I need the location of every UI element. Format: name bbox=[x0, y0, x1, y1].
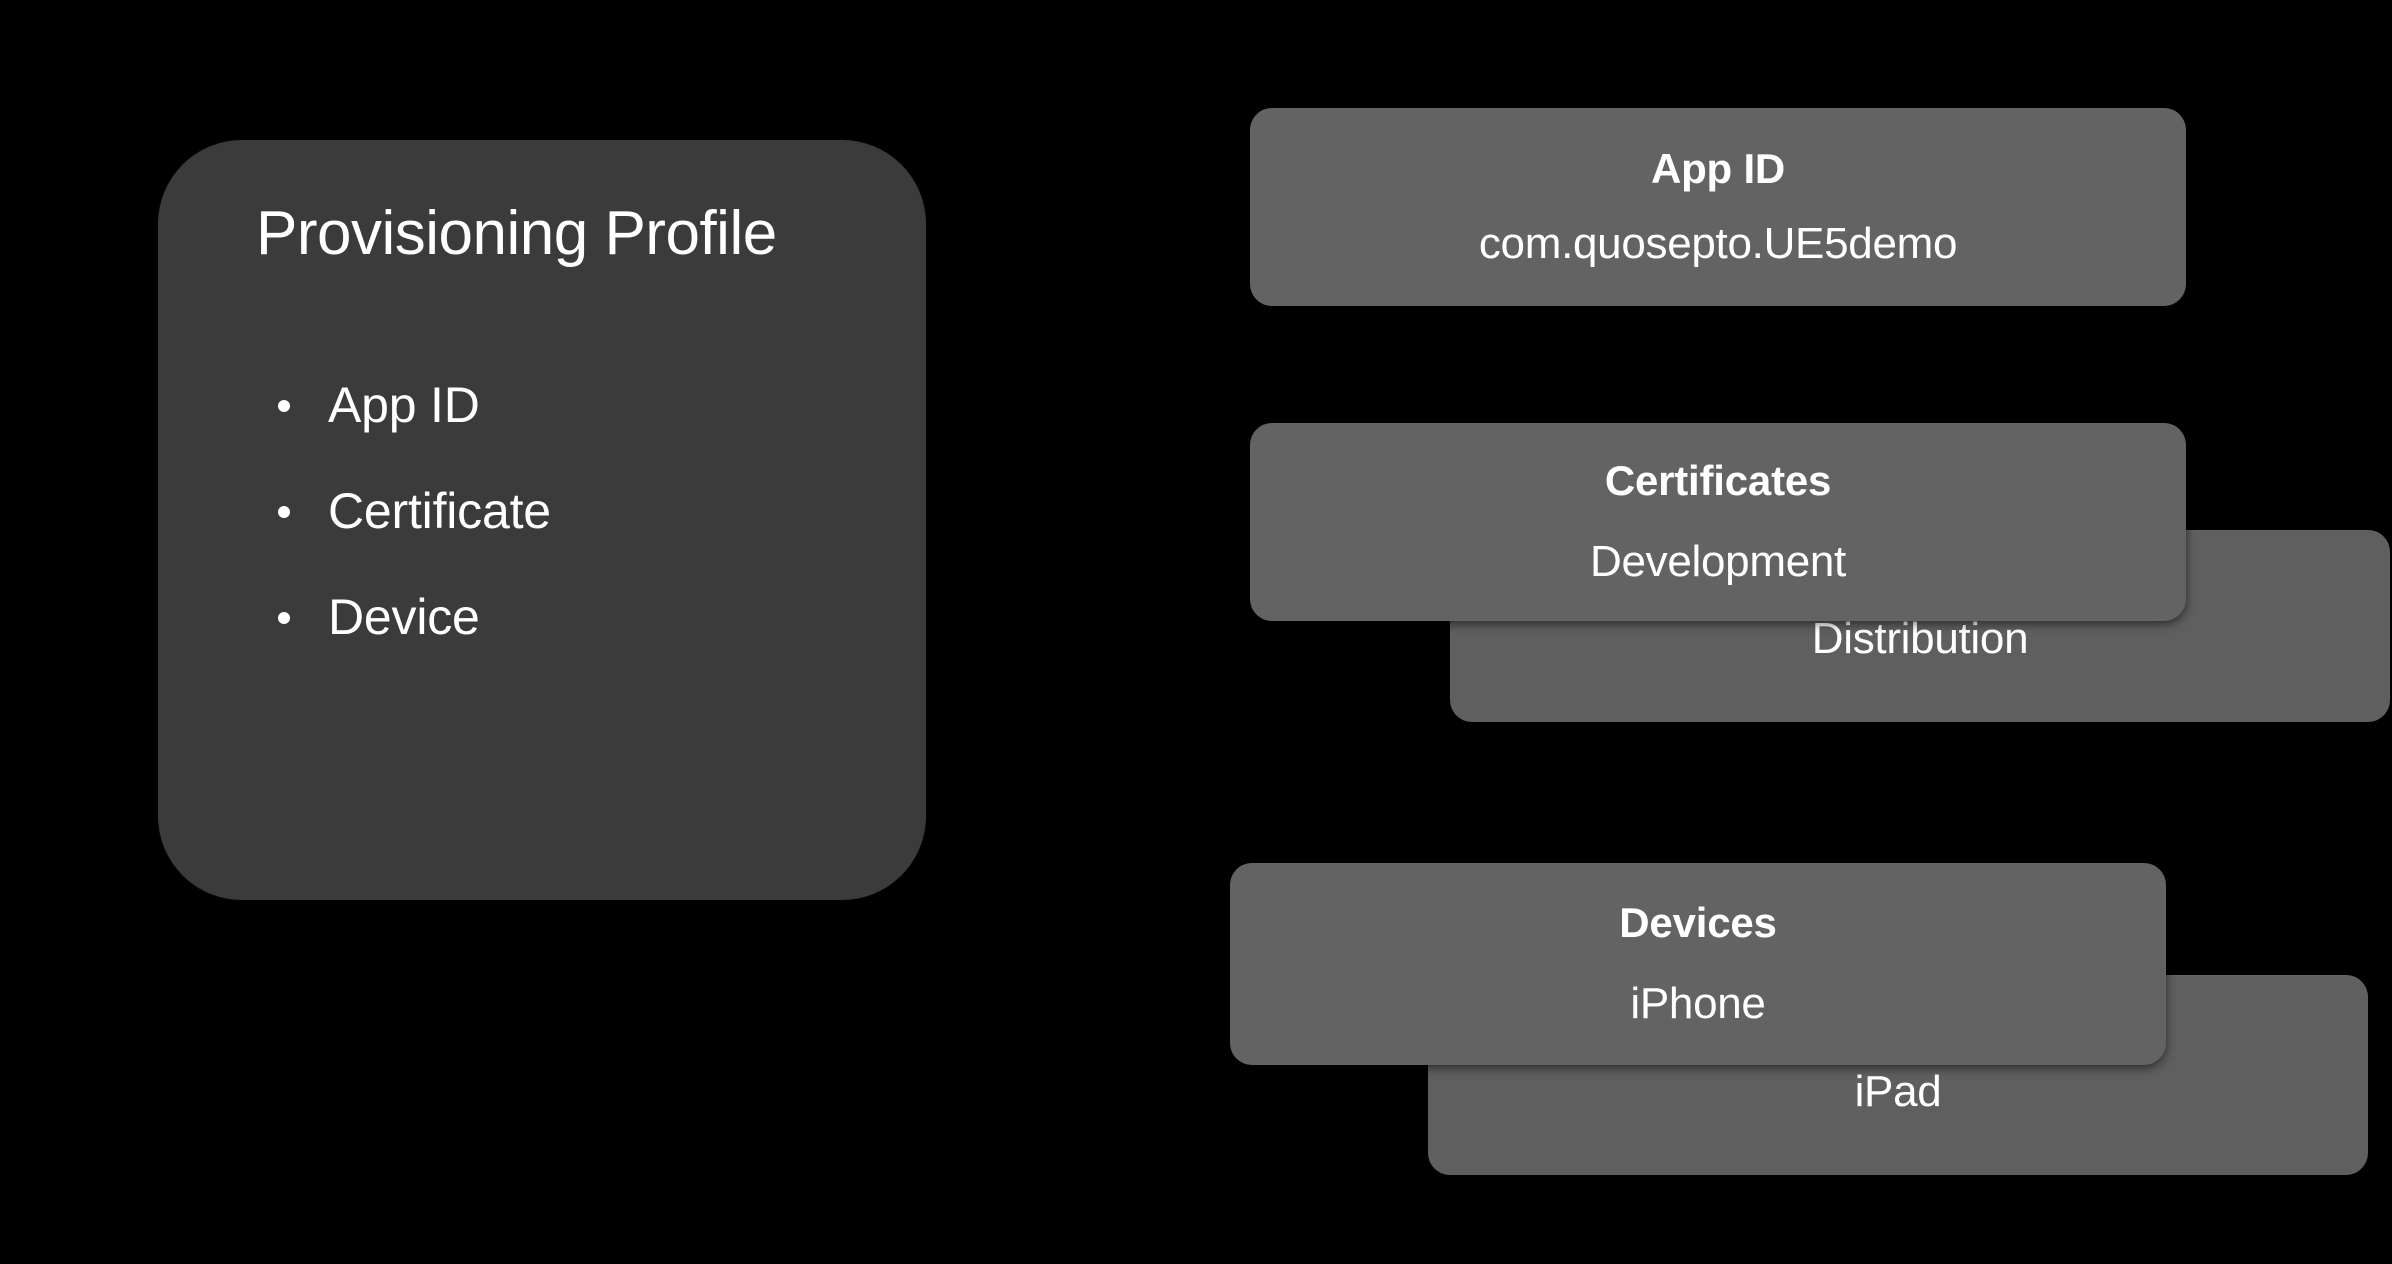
list-item-label: Certificate bbox=[328, 483, 551, 539]
bullet-icon bbox=[278, 612, 290, 624]
app-id-card: App ID com.quosepto.UE5demo bbox=[1250, 108, 2186, 306]
certificates-card-title: Certificates bbox=[1605, 457, 1831, 505]
app-id-card-content: App ID com.quosepto.UE5demo bbox=[1250, 108, 2186, 306]
list-item-label: App ID bbox=[328, 377, 480, 433]
list-item: Certificate bbox=[256, 486, 816, 536]
provisioning-profile-requirements-list: App ID Certificate Device bbox=[256, 380, 816, 642]
certificate-development-label: Development bbox=[1590, 537, 1846, 587]
certificates-card-content: Certificates Development bbox=[1250, 423, 2186, 621]
certificate-distribution-label: Distribution bbox=[1450, 614, 2390, 664]
provisioning-profile-card: Provisioning Profile App ID Certificate … bbox=[158, 140, 926, 900]
device-iphone-label: iPhone bbox=[1630, 979, 1765, 1029]
app-id-card-title: App ID bbox=[1651, 145, 1785, 193]
certificates-card: Certificates Development bbox=[1250, 423, 2186, 621]
list-item: App ID bbox=[256, 380, 816, 430]
bullet-icon bbox=[278, 506, 290, 518]
list-item-label: Device bbox=[328, 589, 480, 645]
list-item: Device bbox=[256, 592, 816, 642]
page-title: Provisioning Profile bbox=[256, 198, 777, 269]
devices-card: Devices iPhone bbox=[1230, 863, 2166, 1065]
devices-card-content: Devices iPhone bbox=[1230, 863, 2166, 1065]
device-ipad-label: iPad bbox=[1428, 1067, 2368, 1117]
slide-canvas: Provisioning Profile App ID Certificate … bbox=[0, 0, 2392, 1264]
bullet-icon bbox=[278, 400, 290, 412]
app-id-card-value: com.quosepto.UE5demo bbox=[1479, 219, 1957, 269]
devices-card-title: Devices bbox=[1619, 899, 1776, 947]
